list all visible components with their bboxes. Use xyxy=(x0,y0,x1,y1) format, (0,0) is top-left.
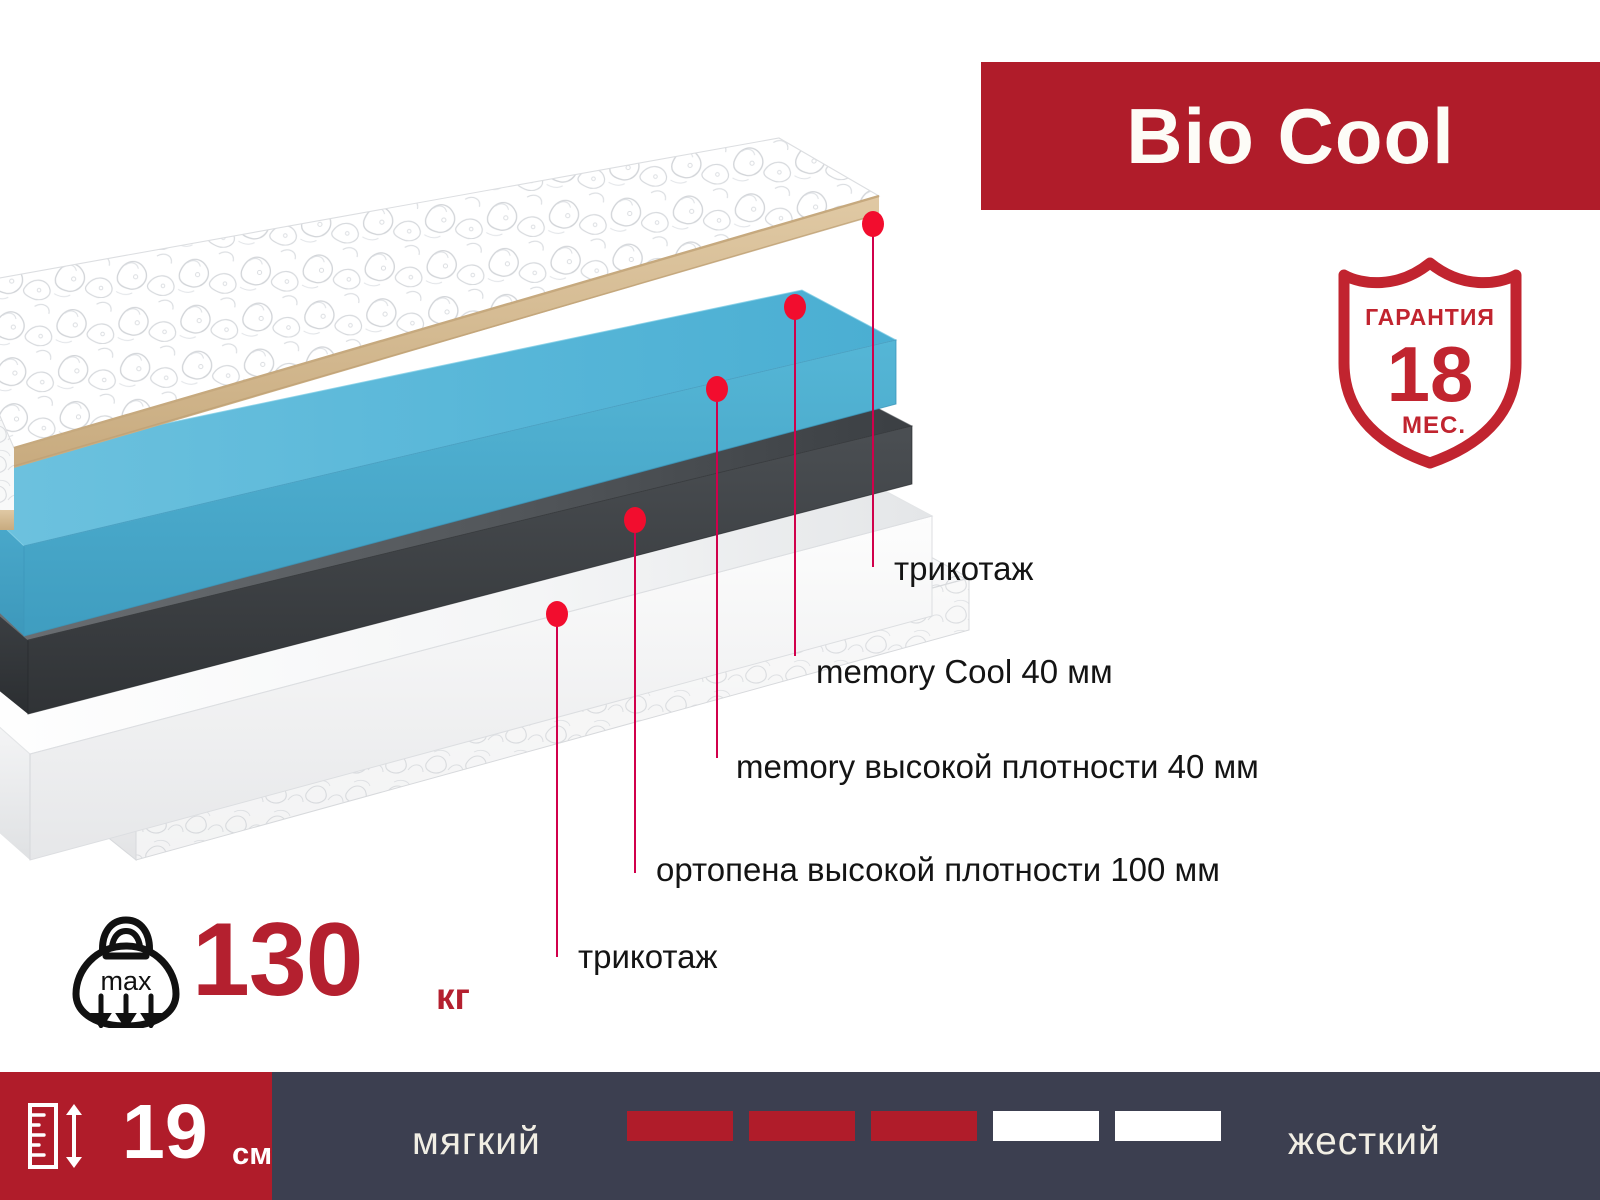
height-unit: см xyxy=(232,1138,272,1169)
brand-name: Bio Cool xyxy=(1126,97,1455,175)
firmness-segment-4 xyxy=(993,1111,1099,1141)
max-label: max xyxy=(100,966,152,996)
leader-stem xyxy=(716,387,718,758)
height-value: 19 xyxy=(122,1094,208,1171)
leader-dot xyxy=(862,211,884,237)
firmness-segment-5 xyxy=(1115,1111,1221,1141)
warranty-value: 18 xyxy=(1387,330,1474,418)
firmness-segment-2 xyxy=(749,1111,855,1141)
leader-stem xyxy=(794,305,796,656)
max-load-value: 130 xyxy=(192,908,363,1012)
firmness-soft-label: мягкий xyxy=(412,1122,541,1161)
firmness-segment-1 xyxy=(627,1111,733,1141)
warranty-top-label: ГАРАНТИЯ xyxy=(1365,304,1495,330)
leader-dot xyxy=(784,294,806,320)
layer-label-knit-bottom: трикотаж xyxy=(578,940,718,973)
brand-banner: Bio Cool xyxy=(981,62,1600,210)
infographic-canvas: трикотаж memory Cool 40 мм memory высоко… xyxy=(0,0,1600,1200)
mattress-layers-illustration xyxy=(0,118,974,908)
warranty-badge: ГАРАНТИЯ 18 МЕС. xyxy=(1330,255,1530,470)
firmness-hard-label: жесткий xyxy=(1288,1122,1441,1161)
warranty-unit: МЕС. xyxy=(1402,412,1466,439)
firmness-segment-3 xyxy=(871,1111,977,1141)
firmness-scale xyxy=(627,1111,1221,1141)
layer-label-memory-cool: memory Cool 40 мм xyxy=(816,655,1113,688)
leader-dot xyxy=(546,601,568,627)
leader-stem xyxy=(634,518,636,873)
bottom-bar: 19 см мягкий жесткий xyxy=(0,1072,1600,1200)
max-load-unit: кг xyxy=(436,978,470,1015)
leader-stem xyxy=(556,612,558,957)
kettlebell-icon: max xyxy=(70,912,182,1028)
leader-dot xyxy=(624,507,646,533)
firmness-block: мягкий жесткий xyxy=(272,1072,1600,1200)
leader-dot xyxy=(706,376,728,402)
layer-label-ortopena: ортопена высокой плотности 100 мм xyxy=(656,853,1220,886)
leader-stem xyxy=(872,222,874,567)
ruler-icon xyxy=(27,1102,103,1170)
max-load-block: max 130 кг xyxy=(70,912,450,1028)
height-block: 19 см xyxy=(0,1072,272,1200)
layer-label-memory-density: memory высокой плотности 40 мм xyxy=(736,750,1259,783)
layer-label-knit-top: трикотаж xyxy=(894,552,1034,585)
